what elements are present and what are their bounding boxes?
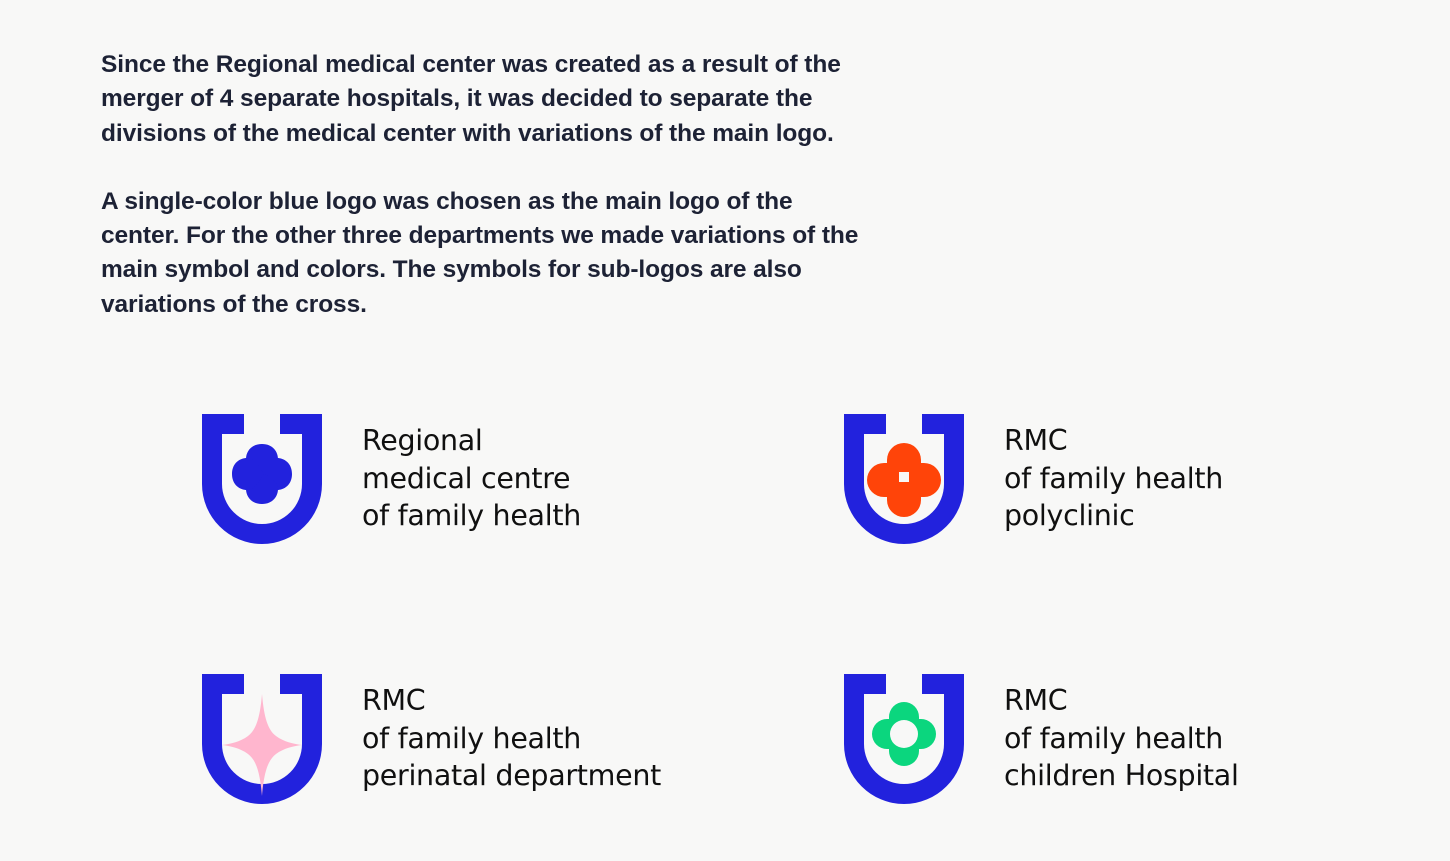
- intro-copy: Since the Regional medical center was cr…: [101, 48, 891, 322]
- logo-mark: [840, 670, 968, 808]
- logo-wordmark: RMC of family health perinatal departmen…: [362, 670, 661, 795]
- wordmark-line-1: RMC: [362, 682, 661, 720]
- wordmark-line-2: of family health: [1004, 460, 1223, 498]
- intro-paragraph-2: A single-color blue logo was chosen as t…: [101, 185, 873, 322]
- wordmark-line-2: of family health: [362, 720, 661, 758]
- logo-wordmark: Regional medical centre of family health: [362, 410, 581, 535]
- wordmark-line-2: of family health: [1004, 720, 1239, 758]
- wordmark-line-3: of family health: [362, 497, 581, 535]
- wordmark-line-1: Regional: [362, 422, 581, 460]
- intro-paragraph-1: Since the Regional medical center was cr…: [101, 48, 873, 151]
- logo-mark: [198, 670, 326, 808]
- logo-children-hospital: RMC of family health children Hospital: [840, 670, 1239, 808]
- wordmark-line-3: polyclinic: [1004, 497, 1223, 535]
- presentation-slide: Since the Regional medical center was cr…: [0, 0, 1450, 861]
- wordmark-line-1: RMC: [1004, 682, 1239, 720]
- logo-wordmark: RMC of family health children Hospital: [1004, 670, 1239, 795]
- logo-row-2: RMC of family health perinatal departmen…: [0, 670, 1450, 861]
- wordmark-line-3: children Hospital: [1004, 757, 1239, 795]
- wordmark-line-2: medical centre: [362, 460, 581, 498]
- logo-mark: [198, 410, 326, 548]
- logo-regional-medical-centre: Regional medical centre of family health: [198, 410, 581, 548]
- wordmark-line-3: perinatal department: [362, 757, 661, 795]
- rounded-cross-ring-icon: [872, 702, 936, 766]
- logo-wordmark: RMC of family health polyclinic: [1004, 410, 1223, 535]
- logo-mark: [840, 410, 968, 548]
- logo-perinatal-department: RMC of family health perinatal departmen…: [198, 670, 661, 808]
- quatrefoil-cross-icon: [867, 443, 941, 517]
- shield-u-shape: [844, 674, 964, 804]
- clover-four-petal-icon: [232, 444, 292, 504]
- shield-u-shape: [844, 414, 964, 544]
- logo-variations-grid: Regional medical centre of family health: [0, 410, 1450, 861]
- logo-row-1: Regional medical centre of family health: [0, 410, 1450, 650]
- logo-polyclinic: RMC of family health polyclinic: [840, 410, 1223, 548]
- wordmark-line-1: RMC: [1004, 422, 1223, 460]
